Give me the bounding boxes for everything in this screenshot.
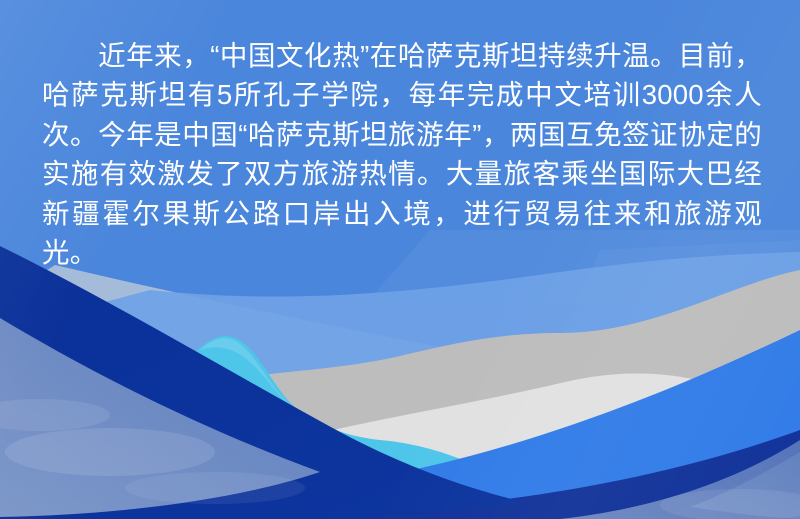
article-paragraph: 近年来，“中国文化热”在哈萨克斯坦持续升温。目前，哈萨克斯坦有5所孔子学院，每年…: [42, 36, 762, 273]
article-card: 近年来，“中国文化热”在哈萨克斯坦持续升温。目前，哈萨克斯坦有5所孔子学院，每年…: [0, 0, 800, 519]
